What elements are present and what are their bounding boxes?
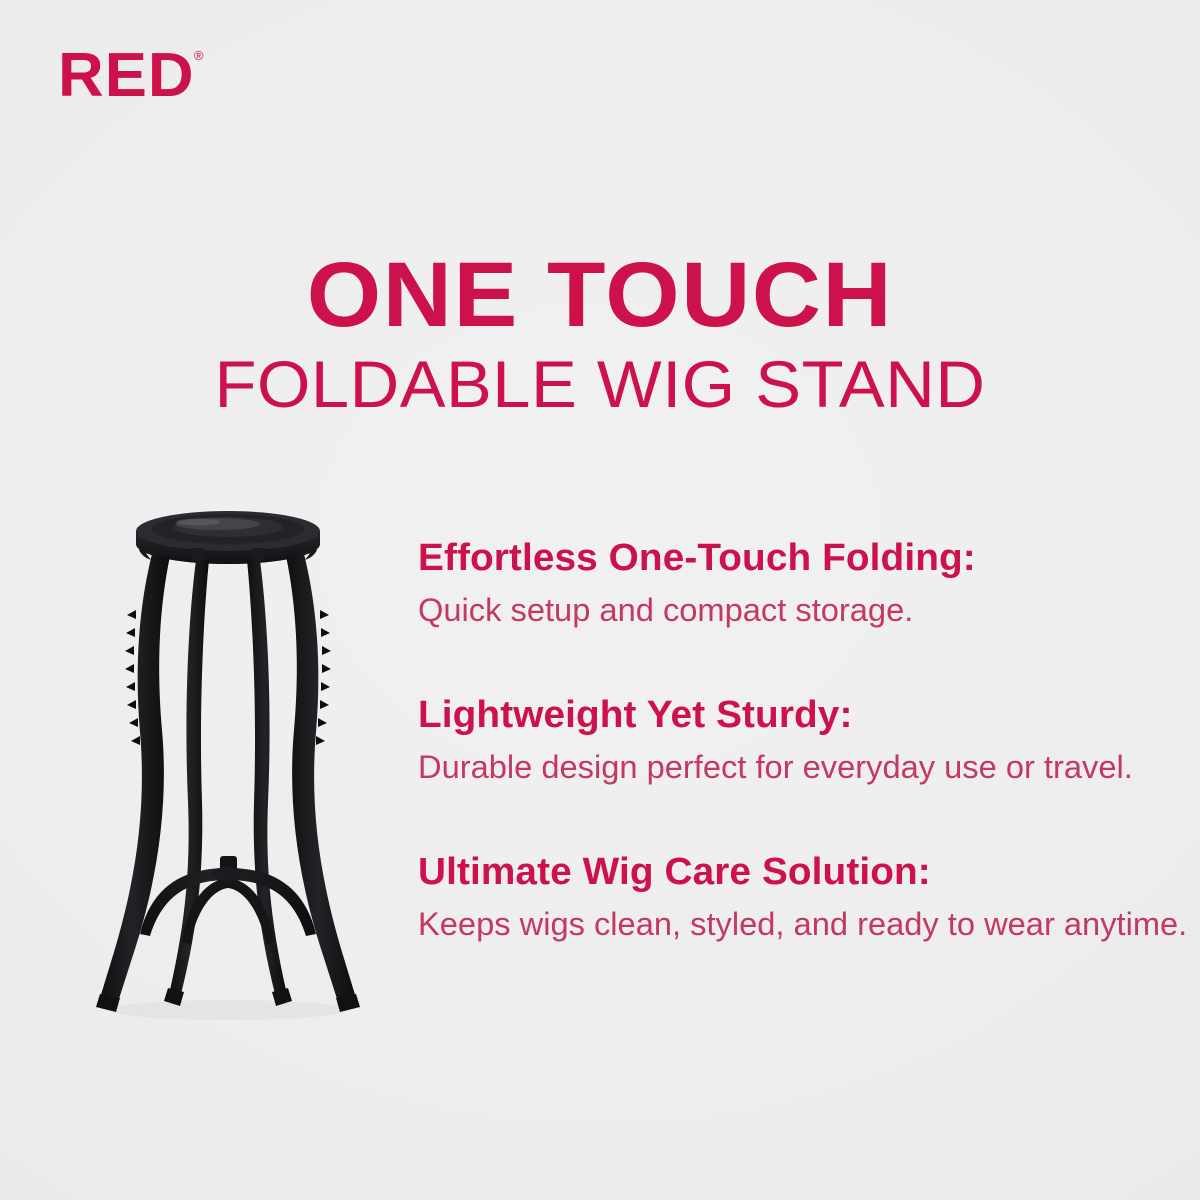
feature-list: Effortless One-Touch Folding: Quick setu…	[418, 536, 1158, 944]
feature-item: Lightweight Yet Sturdy: Durable design p…	[418, 693, 1158, 787]
feature-title: Ultimate Wig Care Solution:	[418, 850, 1173, 894]
product-feature-banner: RED ® ONE TOUCH FOLDABLE WIG STAND	[0, 0, 1200, 1200]
feature-description: Quick setup and compact storage.	[418, 590, 1173, 630]
feature-description: Durable design perfect for everyday use …	[418, 747, 1173, 787]
brand-logo-text: RED	[58, 45, 195, 107]
feature-title: Lightweight Yet Sturdy:	[418, 693, 1173, 737]
product-image-wig-stand	[78, 482, 378, 1027]
headline-primary: ONE TOUCH	[0, 248, 1200, 342]
feature-title: Effortless One-Touch Folding:	[418, 536, 1173, 580]
stand-legs	[100, 554, 356, 1002]
feature-item: Ultimate Wig Care Solution: Keeps wigs c…	[418, 850, 1158, 944]
feature-description: Keeps wigs clean, styled, and ready to w…	[418, 904, 1173, 944]
registered-trademark-icon: ®	[194, 49, 204, 62]
brand-logo: RED ®	[58, 45, 204, 107]
headline-secondary: FOLDABLE WIG STAND	[0, 348, 1200, 420]
stand-base-hub	[140, 856, 316, 944]
feature-item: Effortless One-Touch Folding: Quick setu…	[418, 536, 1158, 630]
headline-block: ONE TOUCH FOLDABLE WIG STAND	[0, 248, 1200, 420]
